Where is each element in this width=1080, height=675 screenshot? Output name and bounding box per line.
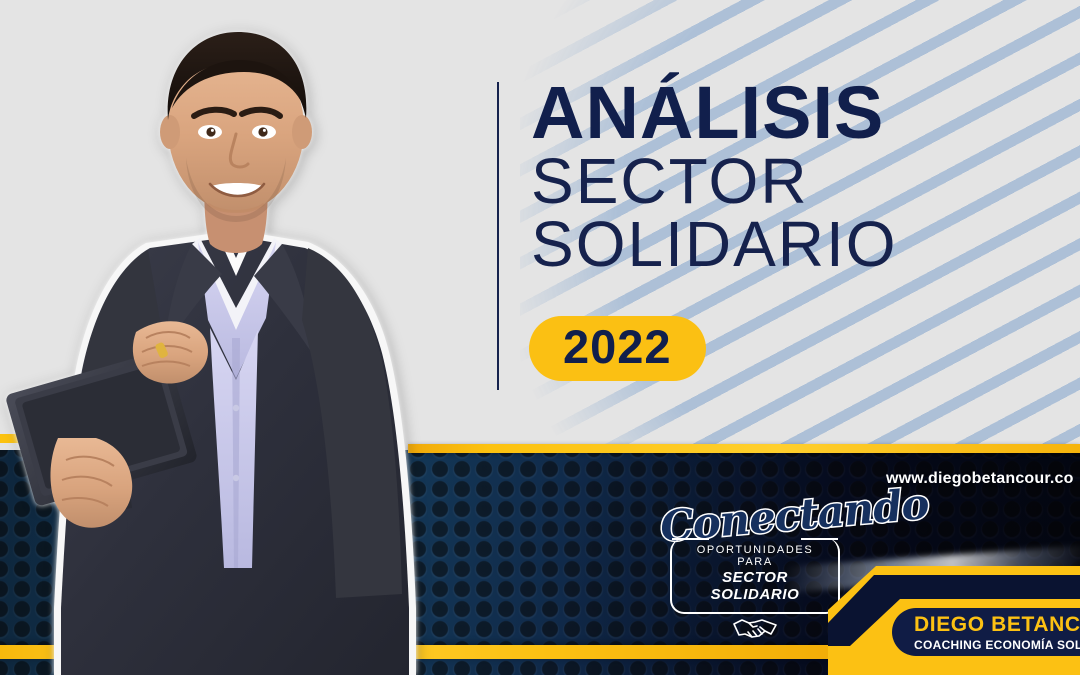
person-photo [0, 8, 466, 675]
logo-subtitle-1: OPORTUNIDADES PARA [680, 544, 830, 568]
logo-frame: OPORTUNIDADES PARA SECTOR SOLIDARIO [670, 538, 840, 614]
badge-pill: DIEGO BETANCOUR COACHING ECONOMÍA SOLIDA… [892, 608, 1080, 656]
headline-vertical-rule [497, 82, 499, 390]
logo-subtitle-2: SECTOR SOLIDARIO [680, 569, 830, 604]
headline-line-2: SECTOR [531, 149, 1071, 214]
headline-block: ANÁLISIS SECTOR SOLIDARIO [531, 79, 1071, 278]
headline-line-1: ANÁLISIS [531, 79, 1071, 147]
headline-line-3: SOLIDARIO [531, 212, 1071, 277]
name-badge: DIEGO BETANCOUR COACHING ECONOMÍA SOLIDA… [828, 566, 1080, 675]
badge-person-name: DIEGO BETANCOUR [914, 614, 1080, 635]
conectando-logo: Conectando OPORTUNIDADES PARA SECTOR SOL… [660, 498, 850, 608]
banner-canvas: ANÁLISIS SECTOR SOLIDARIO 2022 www.diego… [0, 0, 1080, 675]
badge-person-subtitle: COACHING ECONOMÍA SOLIDARIA [914, 639, 1080, 651]
year-badge: 2022 [529, 316, 706, 381]
yellow-divider-rule [408, 444, 1080, 453]
handshake-icon [660, 615, 850, 641]
